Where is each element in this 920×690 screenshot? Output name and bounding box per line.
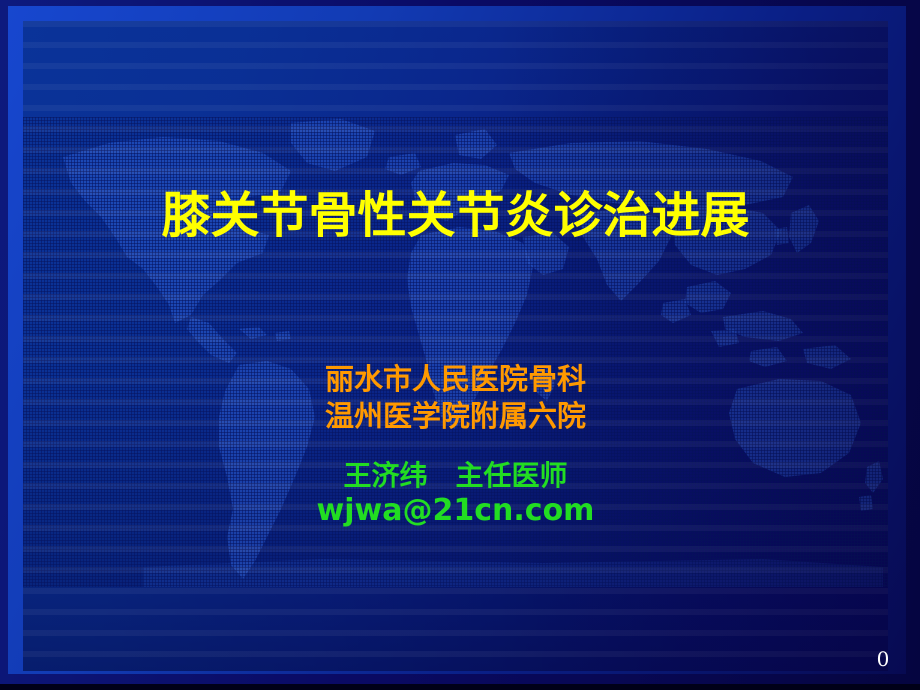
author-name-and-title: 王济纬 主任医师 xyxy=(23,458,888,493)
author-email: wjwa@21cn.com xyxy=(23,493,888,529)
author-block: 王济纬 主任医师 wjwa@21cn.com xyxy=(23,458,888,529)
slide-text-stack: 膝关节骨性关节炎诊治进展 丽水市人民医院骨科 温州医学院附属六院 王济纬 主任医… xyxy=(23,21,888,671)
slide-content-area: 膝关节骨性关节炎诊治进展 丽水市人民医院骨科 温州医学院附属六院 王济纬 主任医… xyxy=(23,21,888,671)
affiliation-line-1: 丽水市人民医院骨科 xyxy=(23,361,888,398)
affiliation-line-2: 温州医学院附属六院 xyxy=(23,398,888,435)
affiliation-block: 丽水市人民医院骨科 温州医学院附属六院 xyxy=(23,361,888,435)
page-number: 0 xyxy=(868,647,888,671)
slide-root: 膝关节骨性关节炎诊治进展 丽水市人民医院骨科 温州医学院附属六院 王济纬 主任医… xyxy=(0,0,920,690)
slide-title: 膝关节骨性关节炎诊治进展 xyxy=(23,187,888,245)
